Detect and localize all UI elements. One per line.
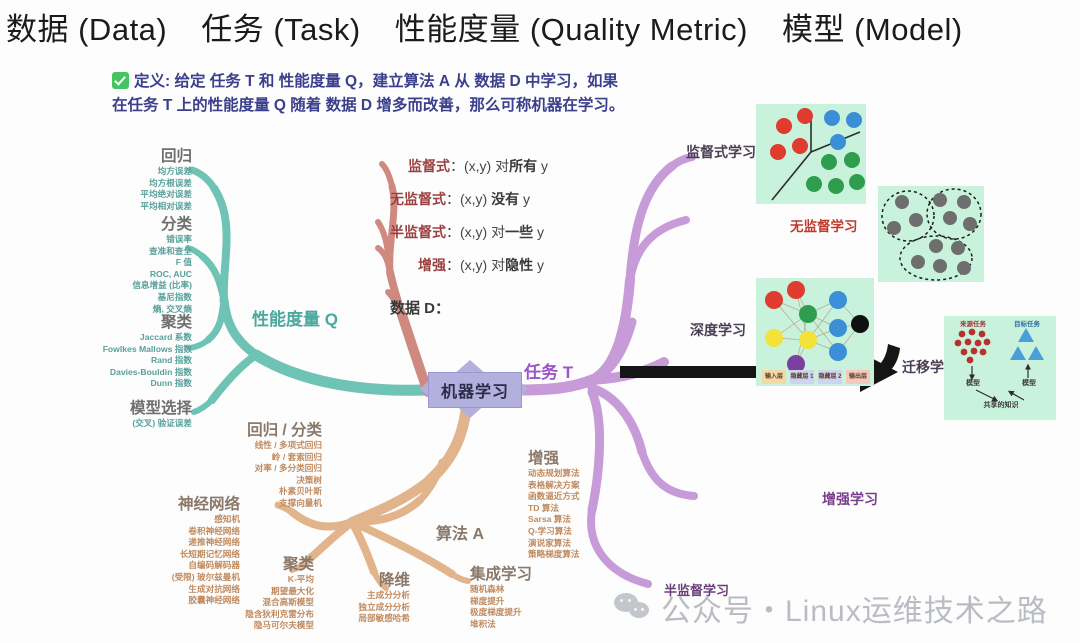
definition-text: 上的: [172, 97, 207, 114]
group-items: K-平均 期望最大化 混合高斯模型 隐含狄利克雷分布 隐马可尔夫模型: [214, 574, 314, 632]
leaf-item: Q-学习算法: [528, 526, 628, 538]
nn-layer-hidden-1: 隐藏层 1: [790, 370, 814, 384]
group-title: 神经网络: [100, 492, 240, 514]
leaf-item: 平均相对误差: [62, 201, 192, 213]
leaf-item: (交叉) 验证误差: [52, 418, 192, 430]
branch-label-quality-metric: 性能度量 Q: [252, 305, 338, 330]
leaf-item: 随机森林: [470, 584, 560, 596]
data-line-rest: ：(x,y) 对: [446, 257, 505, 273]
group-items: (交叉) 验证误差: [52, 418, 192, 430]
center-node-machine-learning[interactable]: 机器学习: [428, 372, 522, 408]
definition-text: 随着: [286, 97, 326, 114]
data-line-tail: y: [519, 191, 530, 207]
group-title: 降维: [330, 568, 410, 590]
illustration-transfer-learning: 来源任务 目标任务 模型 模型 共享的知识: [944, 316, 1056, 420]
data-line-rest: ：(x,y): [446, 191, 491, 207]
definition-task: 任务 T: [210, 73, 255, 90]
data-line-name: 监督式: [408, 158, 450, 174]
mindmap-canvas: 数据 (Data) 任务 (Task) 性能度量 (Quality Metric…: [0, 0, 1080, 643]
data-line-emph: 隐性: [505, 257, 533, 273]
leaf-item: 感知机: [100, 514, 240, 526]
leaf-item: Sarsa 算法: [528, 514, 628, 526]
leaf-item: 表格解决方案: [528, 480, 628, 492]
label-unsupervised-learning: 无监督学习: [790, 215, 858, 235]
group-items: Jaccard 系数 Fowlkes Mallows 指数 Rand 指数 Da…: [32, 332, 192, 390]
definition-data: 数据 D: [474, 73, 521, 90]
leaf-item: 梯度提升: [470, 596, 560, 608]
leaf-item: F 值: [52, 257, 192, 269]
algorithm-group-4: 集成学习 随机森林 梯度提升 极度梯度提升 堆积法: [470, 562, 560, 630]
data-line-emph: 没有: [491, 191, 519, 207]
data-line-rest: ：(x,y) 对: [446, 224, 505, 240]
definition-quality: 性能度量 Q: [279, 73, 357, 90]
leaf-item: Davies-Bouldin 指数: [32, 367, 192, 379]
definition-text: 从: [450, 73, 474, 90]
data-line-tail: y: [533, 224, 544, 240]
branch-label-task: 任务 T: [524, 358, 573, 383]
definition-text: 和: [255, 73, 279, 90]
definition-quality-2: 性能度量 Q: [208, 97, 286, 114]
leaf-item: 均方误差: [62, 166, 192, 178]
definition-text: : 给定: [165, 73, 210, 90]
definition-block: 定义: 给定 任务 T 和 性能度量 Q，建立算法 A 从 数据 D 中学习，如…: [112, 70, 722, 118]
group-title: 模型选择: [52, 396, 192, 418]
data-line-reinforcement: 增强：(x,y) 对隐性 y: [418, 255, 544, 275]
data-line-name: 无监督式: [390, 191, 446, 207]
group-title: 聚类: [32, 310, 192, 332]
leaf-item: 极度梯度提升: [470, 607, 560, 619]
header-row: 数据 (Data) 任务 (Task) 性能度量 (Quality Metric…: [0, 2, 1080, 50]
leaf-item: Dunn 指数: [32, 378, 192, 390]
leaf-item: 局部敏感哈希: [330, 613, 410, 625]
definition-task-2: 任务 T: [128, 97, 173, 114]
group-items: 动态规划算法 表格解决方案 函数逼近方式 TD 算法 Sarsa 算法 Q-学习…: [528, 468, 628, 561]
illustration-supervised: [756, 104, 866, 204]
group-title: 分类: [52, 212, 192, 234]
leaf-item: 岭 / 套索回归: [182, 452, 322, 464]
group-items: 均方误差 均方根误差 平均绝对误差 平均相对误差: [62, 166, 192, 212]
group-title: 集成学习: [470, 562, 560, 584]
header-item-model: 模型 (Model): [782, 4, 963, 49]
group-title: 回归 / 分类: [182, 418, 322, 440]
leaf-item: 隐马可尔夫模型: [214, 620, 314, 632]
header-item-task: 任务 (Task): [201, 4, 361, 49]
data-line-emph: 所有: [509, 158, 537, 174]
data-line-semi-supervised: 半监督式：(x,y) 对一些 y: [390, 222, 544, 242]
group-items: 错误率 查准和查全 F 值 ROC, AUC 信息增益 (比率) 基尼指数 熵,…: [52, 234, 192, 315]
label-deep-learning: 深度学习: [690, 320, 746, 340]
definition-algorithm: 算法 A: [404, 73, 451, 90]
leaf-item: Jaccard 系数: [32, 332, 192, 344]
algorithm-group-3: 降维 主成分分析 独立成分分析 局部敏感哈希: [330, 568, 410, 625]
leaf-item: 错误率: [52, 234, 192, 246]
leaf-item: 独立成分分析: [330, 602, 410, 614]
label-reinforcement-learning: 增强学习: [822, 489, 878, 509]
illustration-unsupervised: [878, 186, 984, 282]
watermark-text: 公众号・Linux运维技术之路: [661, 586, 1048, 630]
branch-label-algorithm: 算法 A: [436, 520, 484, 544]
definition-data-2: 数据 D: [326, 97, 373, 114]
leaf-item: 卷积神经网络: [100, 526, 240, 538]
data-line-rest: ：(x,y) 对: [450, 158, 509, 174]
quality-group-2: 聚类 Jaccard 系数 Fowlkes Mallows 指数 Rand 指数…: [32, 310, 192, 390]
leaf-item: 均方根误差: [62, 178, 192, 190]
algorithm-group-2: 聚类 K-平均 期望最大化 混合高斯模型 隐含狄利克雷分布 隐马可尔夫模型: [214, 552, 314, 632]
quality-group-1: 分类 错误率 查准和查全 F 值 ROC, AUC 信息增益 (比率) 基尼指数…: [52, 212, 192, 315]
leaf-item: 堆积法: [470, 619, 560, 631]
nn-layer-input: 输入层: [762, 370, 786, 384]
group-items: 随机森林 梯度提升 极度梯度提升 堆积法: [470, 584, 560, 630]
definition-text: 增多而改善，那么可称机器在学习。: [372, 97, 624, 114]
leaf-item: ROC, AUC: [52, 269, 192, 281]
leaf-item: K-平均: [214, 574, 314, 586]
leaf-item: 查准和查全: [52, 246, 192, 258]
transfer-model-right: 模型: [1010, 378, 1048, 388]
leaf-item: 线性 / 多项式回归: [182, 440, 322, 452]
leaf-item: 信息增益 (比率): [52, 280, 192, 292]
watermark: 公众号・Linux运维技术之路: [614, 586, 1048, 630]
illustration-deep-learning: 输入层 隐藏层 1 隐藏层 2 输出层: [756, 278, 874, 386]
definition-text: 在: [112, 97, 128, 114]
algorithm-group-5: 增强 动态规划算法 表格解决方案 函数逼近方式 TD 算法 Sarsa 算法 Q…: [528, 446, 628, 561]
center-node-label: 机器学习: [441, 378, 509, 402]
nn-layer-hidden-2: 隐藏层 2: [818, 370, 842, 384]
data-line-tail: y: [537, 158, 548, 174]
header-item-data: 数据 (Data): [6, 4, 167, 49]
check-icon: [112, 72, 129, 89]
nn-layer-output: 输出层: [846, 370, 870, 384]
leaf-item: 函数逼近方式: [528, 491, 628, 503]
transfer-model-left: 模型: [954, 378, 992, 388]
leaf-item: 混合高斯模型: [214, 597, 314, 609]
group-title: 聚类: [214, 552, 314, 574]
leaf-item: 动态规划算法: [528, 468, 628, 480]
leaf-item: 演说家算法: [528, 538, 628, 550]
classification-diagram: [756, 104, 866, 204]
leaf-item: Rand 指数: [32, 355, 192, 367]
data-line-name: 增强: [418, 257, 446, 273]
wechat-icon: [614, 593, 652, 623]
clustering-diagram: [878, 186, 984, 282]
quality-group-0: 回归 均方误差 均方根误差 平均绝对误差 平均相对误差: [62, 144, 192, 212]
definition-text: 中学习，如果: [521, 73, 618, 90]
group-title: 增强: [528, 446, 628, 468]
definition-text: ，建立: [357, 73, 404, 90]
data-line-unsupervised: 无监督式：(x,y) 没有 y: [390, 189, 530, 209]
data-line-emph: 一些: [505, 224, 533, 240]
header-item-quality-metric: 性能度量 (Quality Metric): [395, 4, 748, 49]
group-title: 回归: [62, 144, 192, 166]
leaf-item: TD 算法: [528, 503, 628, 515]
group-items: 主成分分析 独立成分分析 局部敏感哈希: [330, 590, 410, 625]
data-line-supervised: 监督式：(x,y) 对所有 y: [408, 156, 548, 176]
leaf-item: 主成分分析: [330, 590, 410, 602]
leaf-item: Fowlkes Mallows 指数: [32, 344, 192, 356]
label-supervised-learning: 监督式学习: [686, 142, 756, 162]
leaf-item: 策略梯度算法: [528, 549, 628, 561]
leaf-item: 隐含狄利克雷分布: [214, 609, 314, 621]
transfer-shared-knowledge: 共享的知识: [970, 400, 1032, 410]
data-line-tail: y: [533, 257, 544, 273]
branch-label-data: 数据 D：: [390, 297, 450, 318]
definition-keyword: 定义: [134, 73, 165, 90]
leaf-item: 期望最大化: [214, 586, 314, 598]
leaf-item: 平均绝对误差: [62, 189, 192, 201]
leaf-item: 基尼指数: [52, 292, 192, 304]
leaf-item: 递推神经网络: [100, 537, 240, 549]
leaf-item: 决策树: [182, 475, 322, 487]
quality-group-3: 模型选择 (交叉) 验证误差: [52, 396, 192, 430]
data-line-name: 半监督式: [390, 224, 446, 240]
leaf-item: 对率 / 多分类回归: [182, 463, 322, 475]
